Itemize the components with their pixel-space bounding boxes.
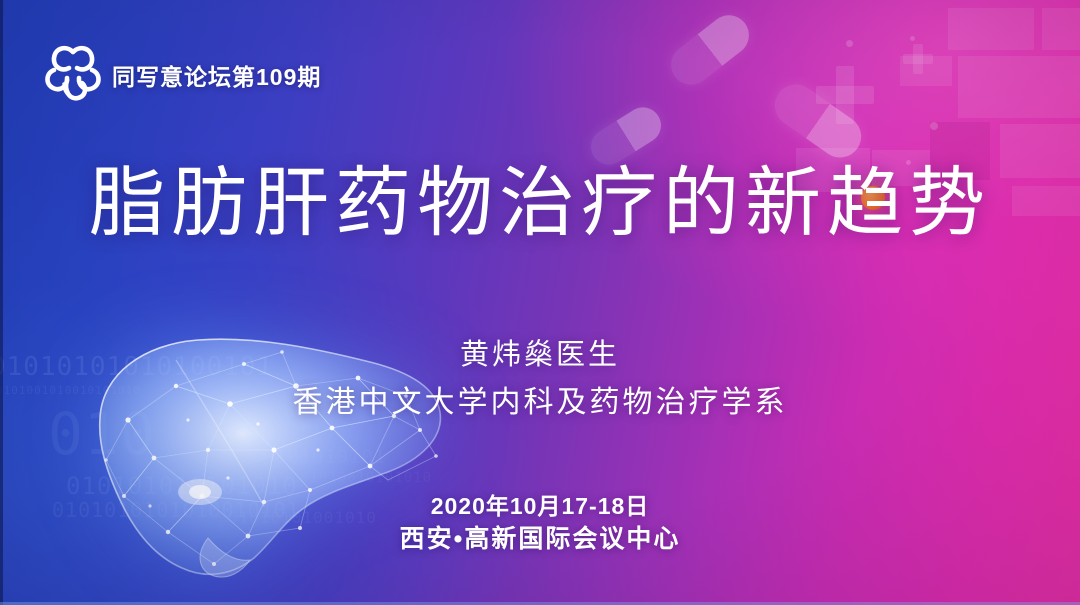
- conference-title-slide: 01010101010100101 0101001010010101010 01…: [0, 0, 1080, 605]
- event-info-block: 2020年10月17-18日 西安•高新国际会议中心: [0, 490, 1080, 557]
- event-date: 2020年10月17-18日: [0, 490, 1080, 523]
- brand-lockup: 同写意论坛第109期: [42, 42, 321, 108]
- slide-edge-left: [0, 0, 3, 605]
- event-venue: 西安•高新国际会议中心: [0, 523, 1080, 557]
- speaker-affiliation: 香港中文大学内科及药物治疗学系: [0, 383, 1080, 422]
- title-block: 脂肪肝药物治疗的新趋势: [0, 166, 1080, 242]
- brand-title: 同写意论坛第109期: [112, 58, 321, 92]
- flower-petal-logo-icon: [42, 42, 104, 108]
- speaker-block: 黄炜燊医生 香港中文大学内科及药物治疗学系: [0, 336, 1080, 422]
- page-title: 脂肪肝药物治疗的新趋势: [89, 166, 991, 242]
- speaker-name: 黄炜燊医生: [0, 336, 1080, 375]
